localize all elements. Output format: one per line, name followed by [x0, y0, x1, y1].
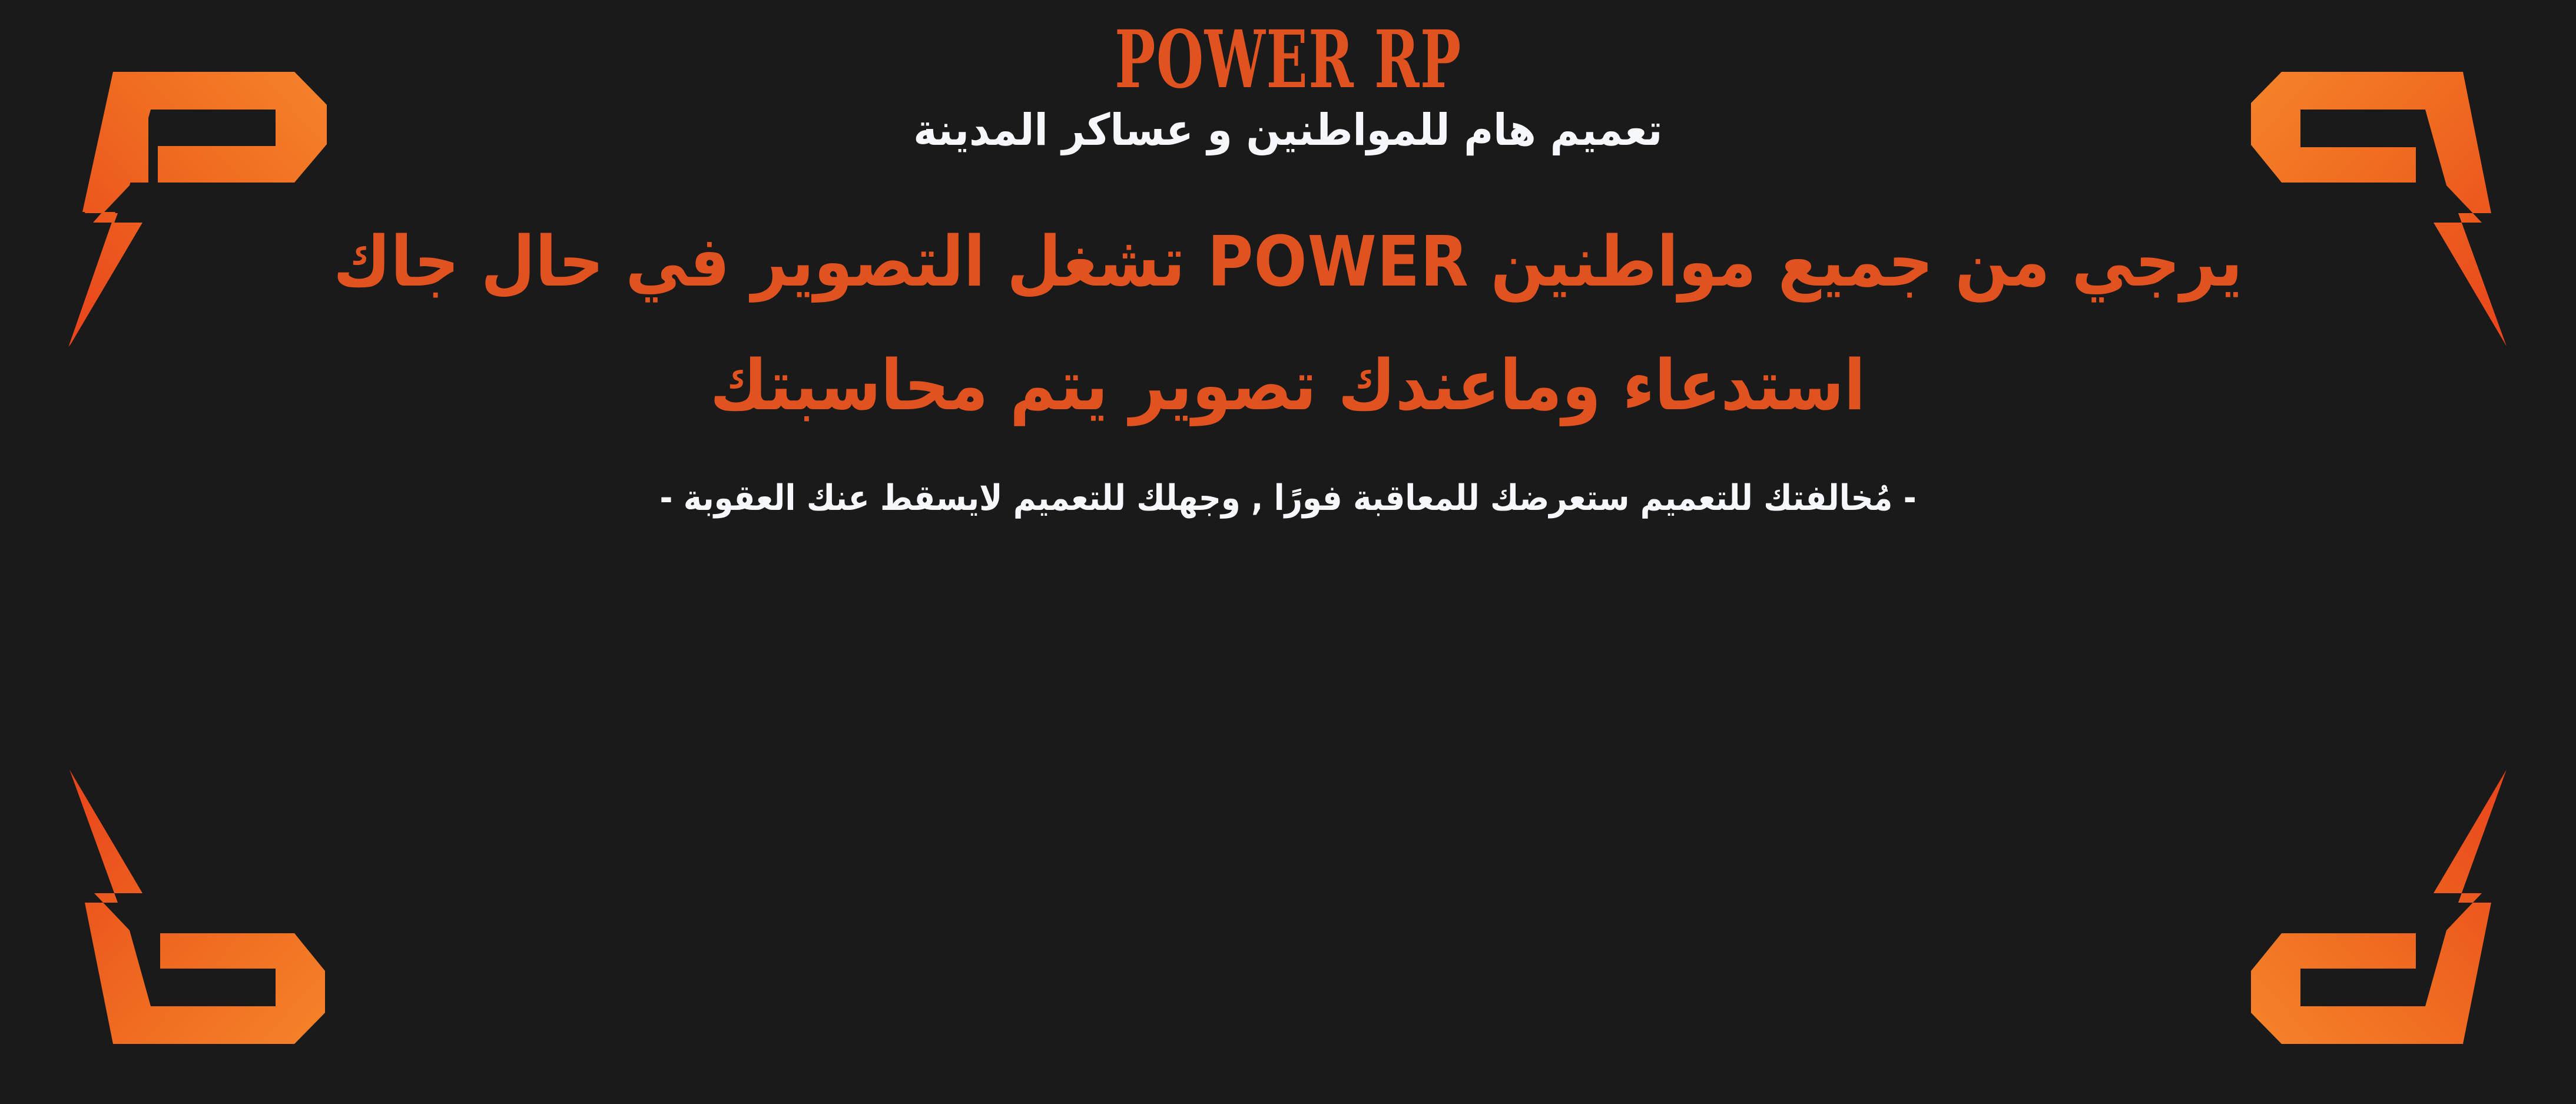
banner-subtitle: تعميم هام للمواطنين و عساكر المدينة — [913, 105, 1662, 156]
announcement-banner: POWER RP تعميم هام للمواطنين و عساكر الم… — [0, 0, 2576, 1104]
penalty-notice: - مُخالفتك للتعميم ستعرضك للمعاقبة فورًا… — [659, 479, 1916, 518]
main-message-line-1: يرجي من جميع مواطنين POWER تشغل التصوير … — [333, 226, 2242, 299]
brand-title: POWER RP — [1115, 20, 1462, 100]
banner-content: POWER RP تعميم هام للمواطنين و عساكر الم… — [0, 0, 2576, 518]
power-p-lightning-logo-bottom-left — [59, 762, 336, 1080]
main-message: يرجي من جميع مواطنين POWER تشغل التصوير … — [0, 226, 2576, 422]
main-message-line-2: استدعاء وماعندك تصوير يتم محاسبتك — [710, 349, 1865, 422]
power-p-lightning-logo-bottom-right — [2240, 762, 2517, 1080]
